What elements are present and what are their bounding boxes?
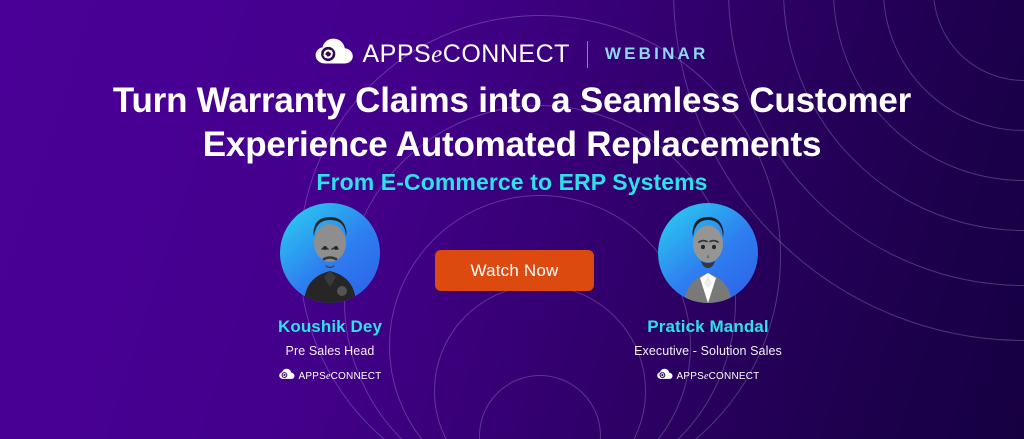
speaker-name: Koushik Dey [215,317,445,337]
cloud-sync-icon [657,367,673,385]
headline-line-2: Experience Automated Replacements [62,123,962,167]
logo-divider [587,41,588,68]
brand-wordmark: APPSeCONNECT [362,40,569,69]
avatar [658,203,758,303]
arc-ring [479,375,601,439]
page-subtitle: From E-Commerce to ERP Systems [62,169,962,196]
cloud-sync-icon [315,38,354,70]
webinar-label: WEBINAR [605,44,709,64]
brand-wordmark-small: APPSeCONNECT [299,371,382,382]
headline-line-1: Turn Warranty Claims into a Seamless Cus… [62,79,962,123]
brand-wordmark-small: APPSeCONNECT [677,371,760,382]
page-title: Turn Warranty Claims into a Seamless Cus… [62,79,962,167]
avatar [280,203,380,303]
brand-header: APPSeCONNECT WEBINAR [0,38,1024,70]
speaker-brand-logo: APPSeCONNECT [593,367,823,385]
speaker-portrait [280,203,380,303]
speaker-card-left: Koushik Dey Pre Sales Head APPSeCONNECT [215,203,445,385]
speaker-role: Pre Sales Head [215,344,445,358]
speaker-card-right: Pratick Mandal Executive - Solution Sale… [593,203,823,385]
appseconnect-logo: APPSeCONNECT [315,38,569,70]
speaker-brand-logo: APPSeCONNECT [215,367,445,385]
watch-now-button[interactable]: Watch Now [435,250,594,291]
webinar-banner: APPSeCONNECT WEBINAR Turn Warranty Claim… [0,0,1024,439]
speaker-role: Executive - Solution Sales [593,344,823,358]
speaker-portrait [658,203,758,303]
cloud-sync-icon [279,367,295,385]
speaker-name: Pratick Mandal [593,317,823,337]
